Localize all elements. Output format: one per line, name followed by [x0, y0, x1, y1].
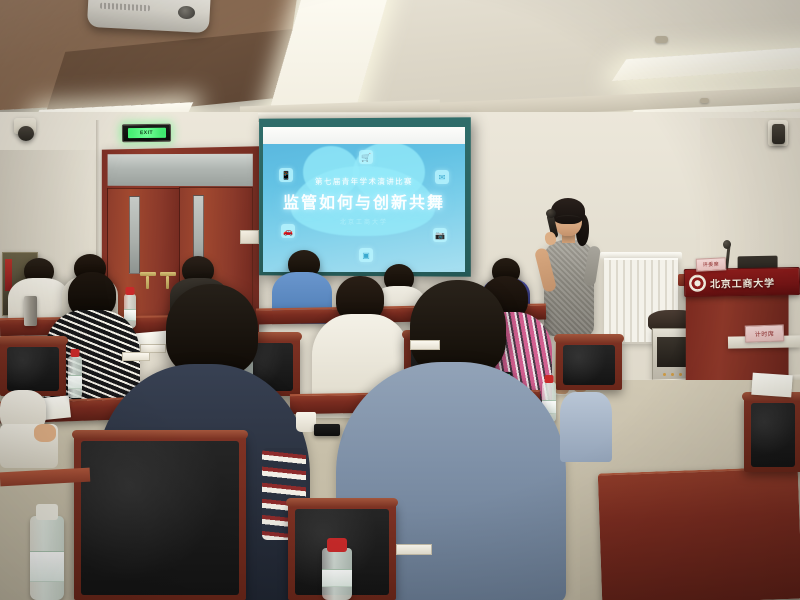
attendee-head-front [166, 284, 258, 376]
timekeeper-placard: 计时席 [745, 324, 785, 342]
door-handle-bar[interactable] [146, 276, 149, 289]
wall-speaker-left [18, 126, 34, 141]
exit-sign-label: EXIT [127, 128, 165, 138]
bottle-label [68, 375, 82, 390]
chair-front [74, 434, 246, 600]
door-transom-window [108, 154, 253, 187]
bottle-cap [71, 349, 80, 357]
lecture-hall-photo: EXIT 第七届青年学术演讲比赛 监管如何与创新共舞 北京工商大学 🛒 📱 ✉ … [0, 0, 800, 600]
bottle-cap [126, 287, 135, 295]
status-led-icon [679, 373, 682, 376]
status-led-icon [663, 373, 666, 376]
seat-tag [396, 544, 432, 555]
chair-right [744, 396, 800, 472]
attendee-hand [34, 424, 56, 442]
seat-tag [410, 340, 440, 350]
microphone-head-icon [546, 209, 556, 218]
water-bottle [68, 356, 82, 398]
screen-white-band [263, 127, 465, 144]
phone-device[interactable] [314, 424, 340, 436]
smoke-detector-icon [700, 98, 709, 103]
university-name-label: 北京工商大学 [710, 274, 775, 290]
emergency-exit-sign: EXIT [122, 124, 171, 143]
media-player-icon: ▣ [359, 248, 373, 262]
podium-microphone-icon [723, 240, 731, 249]
bottle-label [322, 569, 352, 588]
thermos-flask [24, 296, 37, 326]
paper-cup [296, 412, 316, 432]
podium-placard: 评委席 [696, 257, 727, 272]
camera-icon: 📷 [433, 228, 447, 242]
desk-right-front [598, 467, 800, 600]
bottle-cap [545, 375, 554, 383]
bottle-cap [36, 504, 58, 520]
shopping-cart-icon: 🛒 [359, 150, 373, 164]
university-seal-icon [689, 274, 706, 291]
envelope-icon: ✉ [435, 170, 449, 184]
paper-sheet [751, 373, 792, 398]
chair [556, 338, 622, 390]
water-bottle [30, 516, 64, 600]
status-led-icon [671, 373, 674, 376]
car-icon: 🚗 [281, 224, 295, 238]
light-switch[interactable] [240, 230, 259, 244]
bottle-label [30, 551, 64, 582]
seat-tag [122, 352, 150, 361]
water-bottle [322, 548, 352, 600]
glasses-icon [556, 215, 580, 222]
door-glass-panel [129, 196, 140, 274]
slide-main-title: 监管如何与创新共舞 [263, 189, 465, 213]
smartphone-icon: 📱 [279, 168, 293, 182]
door-handle-bar[interactable] [166, 276, 169, 289]
wall-art-red-strip [5, 259, 12, 291]
chair [0, 340, 66, 396]
attendee-shoulder-right [560, 392, 612, 462]
smoke-detector-icon [655, 36, 668, 43]
bottle-cap [327, 538, 347, 552]
wall-speaker-right [772, 124, 785, 144]
